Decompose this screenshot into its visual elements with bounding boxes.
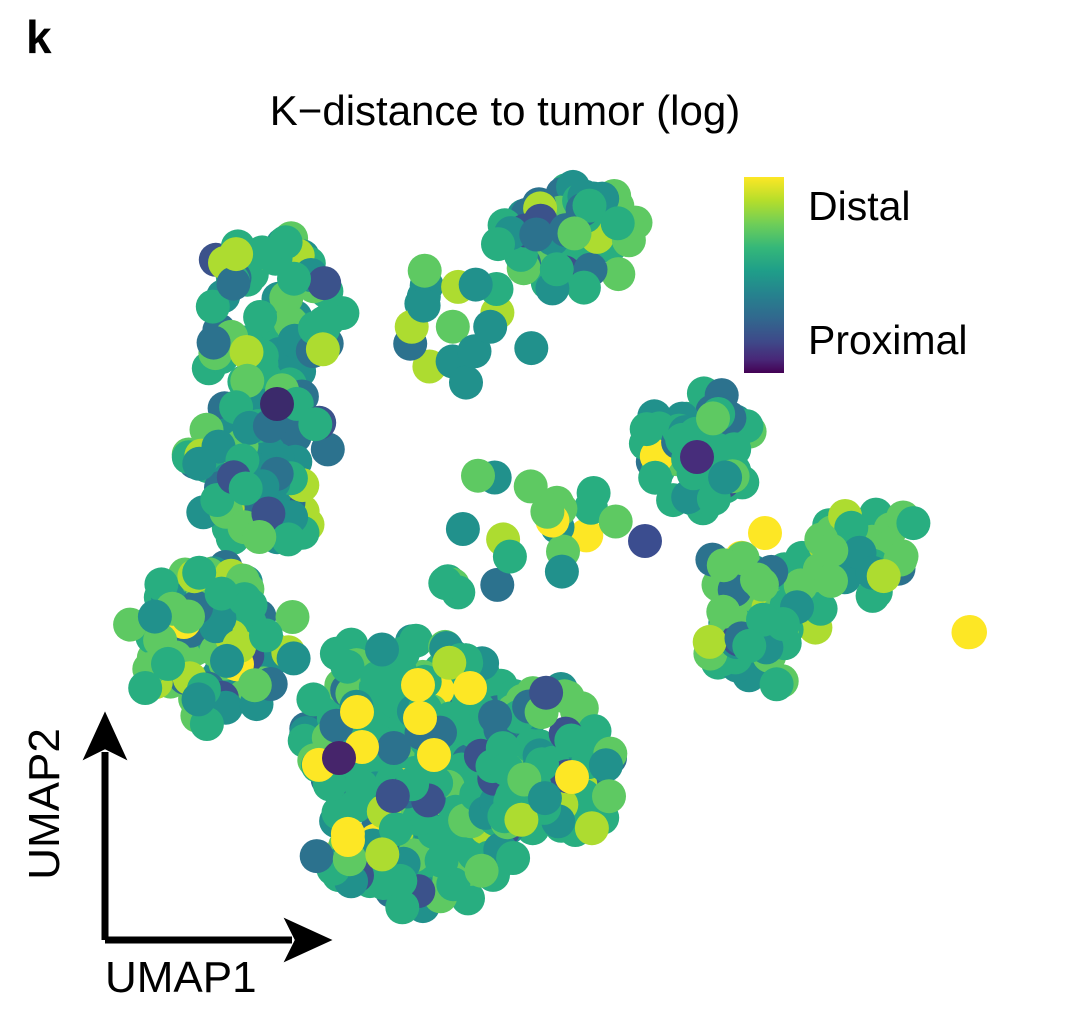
scatter-point <box>269 225 303 259</box>
scatter-point <box>696 401 730 435</box>
scatter-point <box>277 641 311 675</box>
scatter-point-distal-outlier <box>453 671 487 705</box>
scatter-point <box>249 618 283 652</box>
scatter-point <box>554 724 588 758</box>
scatter-point <box>708 460 742 494</box>
scatter-point <box>243 300 277 334</box>
scatter-point <box>298 407 332 441</box>
scatter-point <box>197 326 231 360</box>
scatter-point <box>592 779 626 813</box>
scatter-point <box>496 841 530 875</box>
scatter-point <box>630 412 664 446</box>
scatter-point <box>408 254 442 288</box>
figure-panel: k K−distance to tumor (log) Distal Proxi… <box>0 0 1072 1025</box>
scatter-point <box>814 534 848 568</box>
scatter-point <box>529 676 563 710</box>
scatter-point <box>461 459 495 493</box>
scatter-point <box>459 268 493 302</box>
scatter-point <box>277 262 311 296</box>
axis-arrows: UMAP2 UMAP1 <box>0 690 360 1025</box>
scatter-point-distal-outlier <box>417 738 451 772</box>
x-axis-label: UMAP1 <box>105 956 257 1000</box>
scatter-point <box>745 568 779 602</box>
scatter-point <box>528 781 562 815</box>
legend-label-proximal: Proximal <box>808 320 967 361</box>
scatter-point <box>182 556 216 590</box>
scatter-point <box>242 520 276 554</box>
scatter-point <box>514 331 548 365</box>
colorbar-gradient <box>744 177 784 373</box>
scatter-point-proximal-point <box>260 387 294 421</box>
scatter-point <box>229 472 263 506</box>
scatter-point <box>558 216 592 250</box>
scatter-point <box>271 522 305 556</box>
scatter-point-isolated-distal-point <box>953 615 987 649</box>
scatter-point <box>306 332 340 366</box>
scatter-point <box>481 227 515 261</box>
scatter-point <box>138 600 172 634</box>
scatter-point <box>365 837 399 871</box>
scatter-point <box>446 512 480 546</box>
scatter-point <box>365 633 399 667</box>
scatter-point <box>307 266 341 300</box>
scatter-point-proximal-point <box>680 440 714 474</box>
scatter-point <box>589 748 623 782</box>
scatter-point <box>867 559 901 593</box>
scatter-point <box>519 218 553 252</box>
y-axis-label: UMAP2 <box>23 699 67 909</box>
scatter-point <box>376 779 410 813</box>
scatter-point <box>234 588 268 622</box>
scatter-point <box>473 310 507 344</box>
scatter-point <box>407 289 441 323</box>
scatter-point <box>360 661 394 695</box>
scatter-point <box>814 564 848 598</box>
scatter-point <box>601 206 635 240</box>
scatter-point <box>732 629 766 663</box>
scatter-point <box>478 700 512 734</box>
scatter-point <box>530 495 564 529</box>
scatter-point <box>465 854 499 888</box>
scatter-point <box>182 447 216 481</box>
legend-label-distal: Distal <box>808 186 911 227</box>
scatter-point <box>540 252 574 286</box>
scatter-point <box>599 505 633 539</box>
scatter-point <box>693 625 727 659</box>
scatter-point-distal-outlier <box>748 516 782 550</box>
scatter-point <box>219 237 253 271</box>
scatter-point <box>216 267 250 301</box>
scatter-point-proximal-point <box>628 524 662 558</box>
scatter-point <box>425 844 459 878</box>
scatter-point <box>331 650 365 684</box>
scatter-point <box>707 548 741 582</box>
scatter-point <box>545 555 579 589</box>
scatter-point <box>896 506 930 540</box>
scatter-point-distal-outlier <box>401 668 435 702</box>
scatter-point <box>493 540 527 574</box>
scatter-point <box>449 366 483 400</box>
scatter-point <box>638 461 672 495</box>
scatter-point <box>428 566 462 600</box>
scatter-point-distal-outlier <box>403 701 437 735</box>
scatter-point <box>575 811 609 845</box>
scatter-point-distal-outlier <box>555 760 589 794</box>
scatter-point <box>760 667 794 701</box>
scatter-point <box>210 644 244 678</box>
color-legend: Distal Proximal <box>744 177 1054 377</box>
